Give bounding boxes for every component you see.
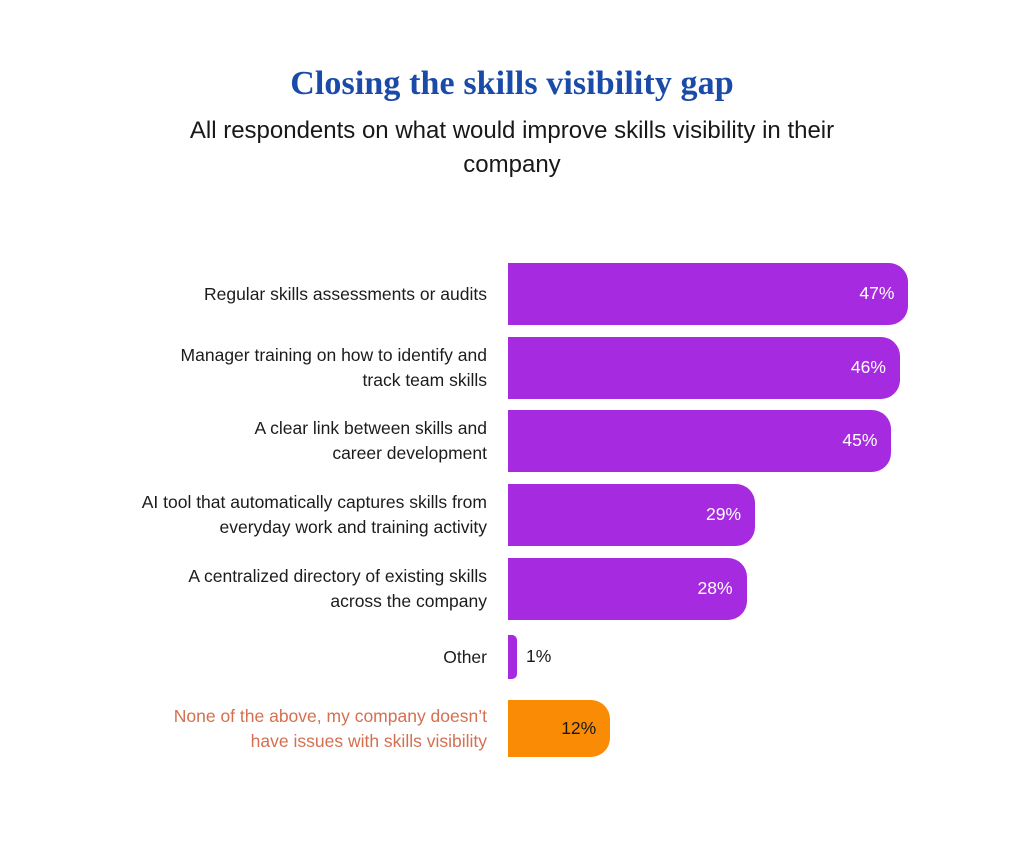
chart-figure: Closing the skills visibility gap All re…	[0, 0, 1024, 843]
bar[interactable]: 12%	[508, 700, 610, 757]
bar-value-label: 47%	[859, 285, 908, 303]
bar-category-label: None of the above, my company doesn’t ha…	[67, 704, 487, 754]
bar-category-label: A centralized directory of existing skil…	[67, 564, 487, 614]
bar-row: Regular skills assessments or audits47%	[0, 263, 1024, 325]
chart-plot-area: Regular skills assessments or audits47%M…	[0, 248, 1024, 788]
bar-row: None of the above, my company doesn’t ha…	[0, 700, 1024, 757]
bar-row: Manager training on how to identify and …	[0, 337, 1024, 399]
bar-value-label: 45%	[842, 432, 891, 450]
bar-row: AI tool that automatically captures skil…	[0, 484, 1024, 546]
chart-title: Closing the skills visibility gap	[0, 62, 1024, 106]
bar[interactable]: 45%	[508, 410, 891, 472]
bar-value-label: 1%	[526, 648, 551, 666]
bar-category-label: A clear link between skills and career d…	[67, 416, 487, 466]
bar-value-label: 28%	[698, 580, 747, 598]
chart-header: Closing the skills visibility gap All re…	[0, 62, 1024, 182]
bar-category-label: Regular skills assessments or audits	[67, 282, 487, 307]
bar[interactable]: 29%	[508, 484, 755, 546]
bar-value-label: 46%	[851, 359, 900, 377]
bar[interactable]: 47%	[508, 263, 908, 325]
chart-subtitle: All respondents on what would improve sk…	[162, 114, 862, 182]
bar-value-label: 12%	[561, 720, 610, 738]
bar-row: A centralized directory of existing skil…	[0, 558, 1024, 620]
bar-category-label: AI tool that automatically captures skil…	[67, 490, 487, 540]
bar[interactable]: 46%	[508, 337, 900, 399]
bar-row: A clear link between skills and career d…	[0, 410, 1024, 472]
bar-category-label: Other	[67, 645, 487, 670]
bar[interactable]: 1%	[508, 635, 517, 679]
bar[interactable]: 28%	[508, 558, 747, 620]
bar-category-label: Manager training on how to identify and …	[67, 343, 487, 393]
bar-value-label: 29%	[706, 506, 755, 524]
bar-row: Other1%	[0, 635, 1024, 679]
